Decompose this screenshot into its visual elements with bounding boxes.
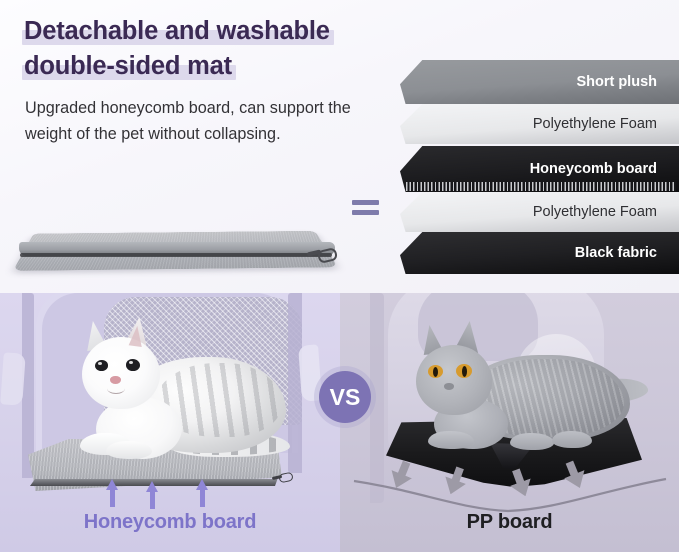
cat-paw-front xyxy=(428,431,474,449)
caption-pp-board: PP board xyxy=(340,511,679,534)
equals-bar-top xyxy=(352,200,379,205)
headline-line-1-text: Detachable and washable xyxy=(24,17,330,45)
cat-paw-rear-left xyxy=(510,433,554,450)
cat-head xyxy=(416,345,492,415)
arrow-shaft xyxy=(200,488,205,507)
arrow-head xyxy=(386,470,412,492)
equals-icon xyxy=(352,200,380,220)
layer-label: Polyethylene Foam xyxy=(533,204,657,220)
vs-badge-label: VS xyxy=(330,384,361,411)
comparison-panel-right: PP board xyxy=(340,293,679,552)
page-title: Detachable and washable double-sided mat xyxy=(24,14,424,84)
cat-paw-front-right xyxy=(106,441,152,459)
layer-polyethylene-foam-top: Polyethylene Foam xyxy=(400,104,679,144)
headline-line-1: Detachable and washable xyxy=(24,14,330,49)
zipper-icon xyxy=(272,473,296,487)
carrier-flap-left xyxy=(0,352,26,405)
carrier-post xyxy=(370,293,384,503)
layer-polyethylene-foam-bottom: Polyethylene Foam xyxy=(400,192,679,232)
cat-eye-shine-left xyxy=(98,362,102,365)
arrow-up-icon xyxy=(196,479,208,507)
mat-bottom-edge xyxy=(20,253,332,257)
arrow-shaft xyxy=(150,490,155,509)
cat-eye-right xyxy=(126,359,140,371)
zipper-pull xyxy=(317,247,338,264)
layer-honeycomb-board: Honeycomb board xyxy=(400,146,679,192)
zipper-icon xyxy=(306,247,346,267)
cat-pupil-left xyxy=(433,367,438,377)
layer-black-fabric: Black fabric xyxy=(400,232,679,274)
comparison-panel-left: Honeycomb board xyxy=(0,293,340,552)
arrow-down-icon xyxy=(383,457,418,495)
headline-line-2-text: double-sided mat xyxy=(24,52,232,80)
infographic-page: Detachable and washable double-sided mat… xyxy=(0,0,679,552)
arrow-shaft xyxy=(110,488,115,507)
layer-label: Short plush xyxy=(576,74,657,90)
arrow-up-icon xyxy=(106,479,118,507)
pressure-arrows-down xyxy=(384,461,634,495)
cat-white-tabby xyxy=(62,315,292,475)
vs-badge: VS xyxy=(319,371,371,423)
arrow-head xyxy=(564,470,590,492)
support-arrows-up xyxy=(96,479,226,509)
arrow-head xyxy=(440,476,466,498)
layer-stack-diagram: Short plush Polyethylene Foam Honeycomb … xyxy=(400,58,679,273)
carrier-post-left xyxy=(22,293,34,478)
arrow-up-icon xyxy=(146,481,158,509)
cat-eye-shine-right xyxy=(129,361,133,364)
arrow-down-icon xyxy=(557,457,592,495)
comparison-section: Honeycomb board xyxy=(0,293,679,552)
cat-mouth xyxy=(107,383,125,394)
layer-short-plush: Short plush xyxy=(400,60,679,104)
equals-bar-bottom xyxy=(352,210,379,215)
layer-label: Honeycomb board xyxy=(530,161,657,177)
product-mat-image xyxy=(6,185,351,285)
corrugated-edge-texture xyxy=(406,182,677,191)
feature-description: Upgraded honeycomb board, can support th… xyxy=(25,96,385,147)
cat-head xyxy=(82,337,160,409)
cat-nose xyxy=(444,383,454,390)
headline-line-2: double-sided mat xyxy=(24,49,232,84)
arrow-down-icon xyxy=(438,463,473,500)
top-feature-section: Detachable and washable double-sided mat… xyxy=(0,0,679,293)
caption-honeycomb-board: Honeycomb board xyxy=(0,511,340,534)
cat-paw-rear-right xyxy=(552,431,592,448)
layer-label: Black fabric xyxy=(575,245,657,261)
cat-pupil-right xyxy=(462,366,467,377)
cat-gray xyxy=(394,315,644,455)
layer-label: Polyethylene Foam xyxy=(533,116,657,132)
